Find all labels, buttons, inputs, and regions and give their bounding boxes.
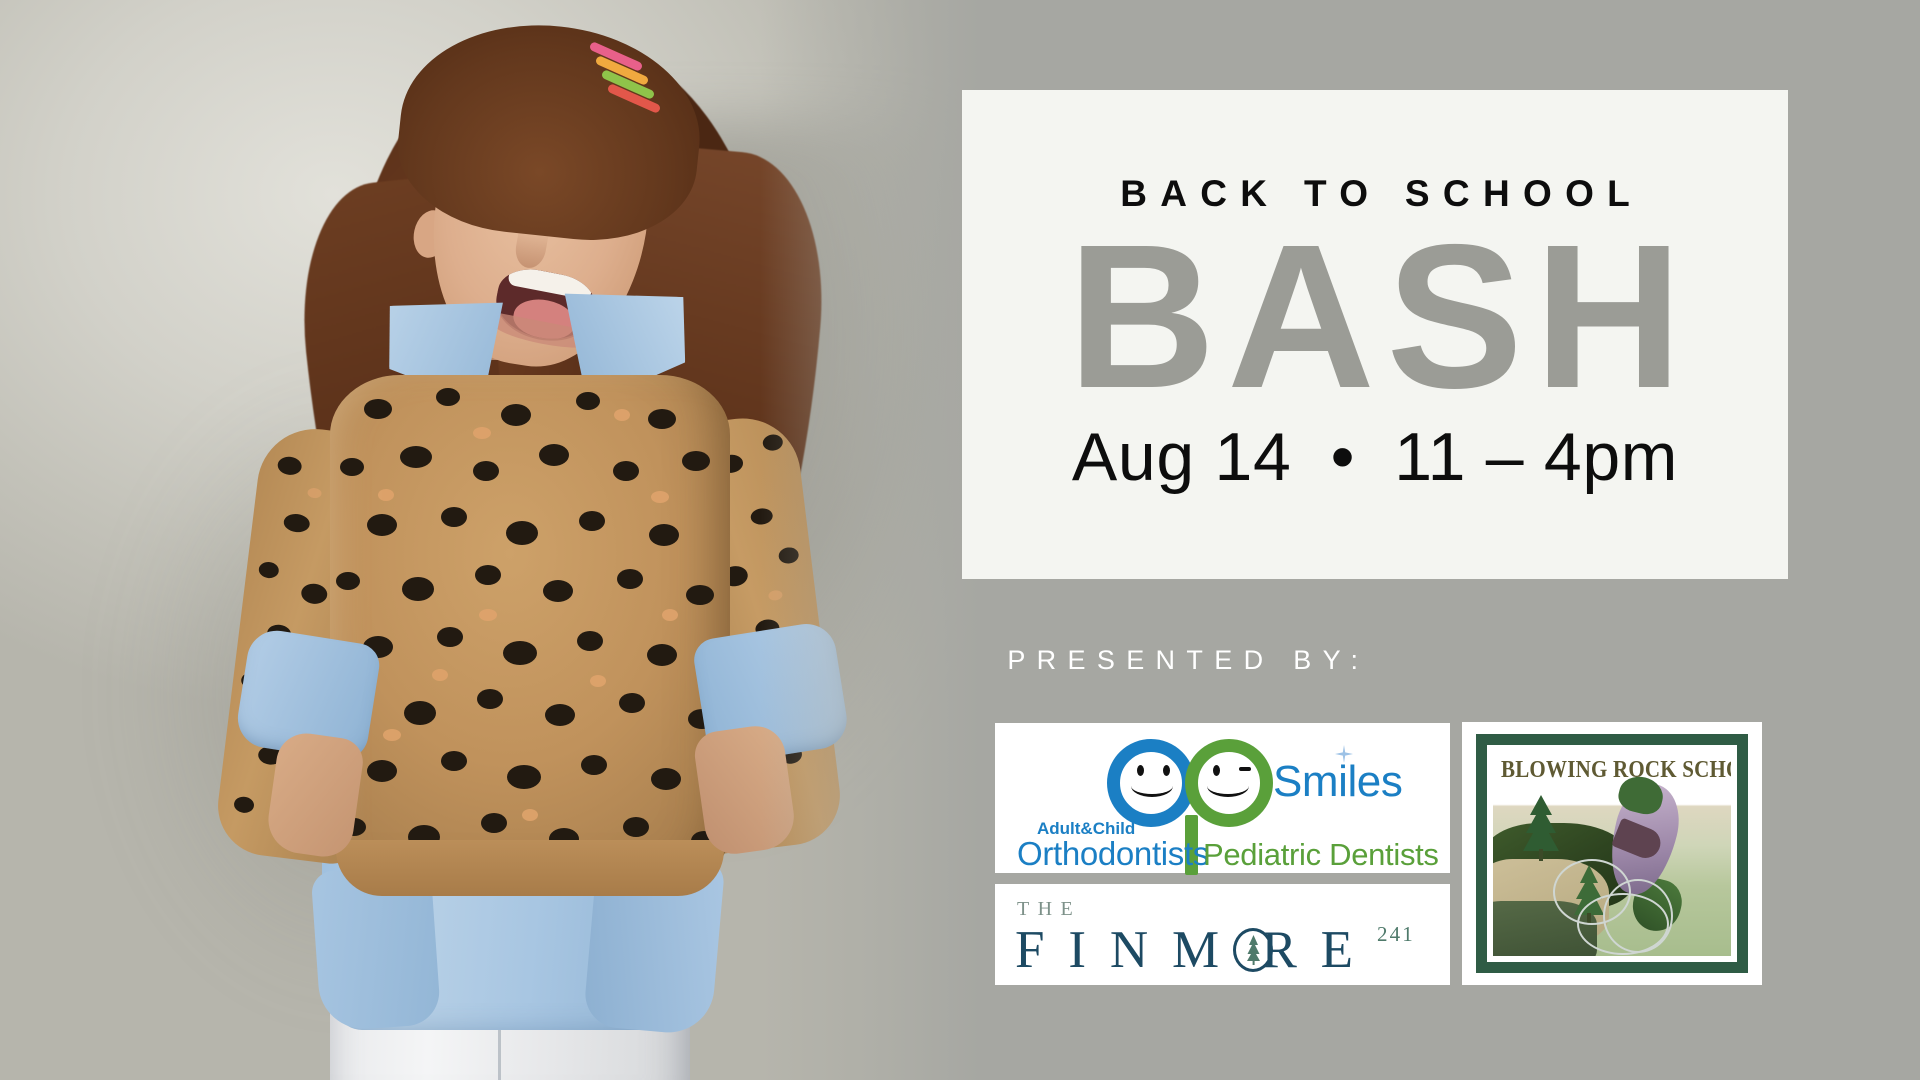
- finmore-the-text: THE: [1017, 898, 1081, 921]
- photo-edge-fade: [760, 0, 980, 1080]
- brs-line-loop-3: [1603, 879, 1673, 953]
- op-smiles-wordmark: Smiles: [1273, 757, 1402, 807]
- op-smiles-artwork: Smiles Adult&Child Orthodontists Pediatr…: [995, 723, 1450, 873]
- event-date-time: Aug 14 • 11 – 4pm: [1072, 418, 1678, 496]
- sponsor-logo-blowing-rock-school[interactable]: BLOWING ROCK SCHOOL: [1462, 722, 1762, 985]
- brs-illustration: BLOWING ROCK SCHOOL: [1493, 751, 1731, 956]
- leopard-print-sweater: [330, 375, 730, 885]
- pine-tree-icon: [1244, 934, 1263, 966]
- op-o-smile-icon: [1131, 775, 1173, 797]
- leopard-print-pattern: [330, 375, 730, 885]
- sweater-hem: [336, 840, 724, 896]
- hero-photo: [0, 0, 980, 1080]
- pine-tree-left-icon: [1519, 793, 1563, 863]
- page-title: BASH: [1056, 223, 1693, 412]
- finmore-wordmark: F I N M R E: [1015, 920, 1358, 980]
- finmore-241-superscript: 241: [1377, 922, 1415, 947]
- presented-by-label: PRESENTED BY:: [996, 645, 1369, 676]
- op-pediatric-dentists-text: Pediatric Dentists: [1203, 837, 1439, 873]
- brs-title-text: BLOWING ROCK SCHOOL: [1501, 755, 1727, 784]
- sponsor-logo-the-finmore-241[interactable]: THE F I N M R E 241: [995, 884, 1450, 985]
- op-p-eye-wink-icon: [1239, 767, 1251, 771]
- sponsor-logo-op-smiles[interactable]: Smiles Adult&Child Orthodontists Pediatr…: [995, 723, 1450, 873]
- op-p-smile-icon: [1207, 775, 1249, 797]
- brs-green-frame: BLOWING ROCK SCHOOL: [1476, 734, 1748, 973]
- headline-card: BACK TO SCHOOL BASH Aug 14 • 11 – 4pm: [962, 90, 1788, 579]
- op-orthodontists-text: Orthodontists: [1017, 835, 1209, 873]
